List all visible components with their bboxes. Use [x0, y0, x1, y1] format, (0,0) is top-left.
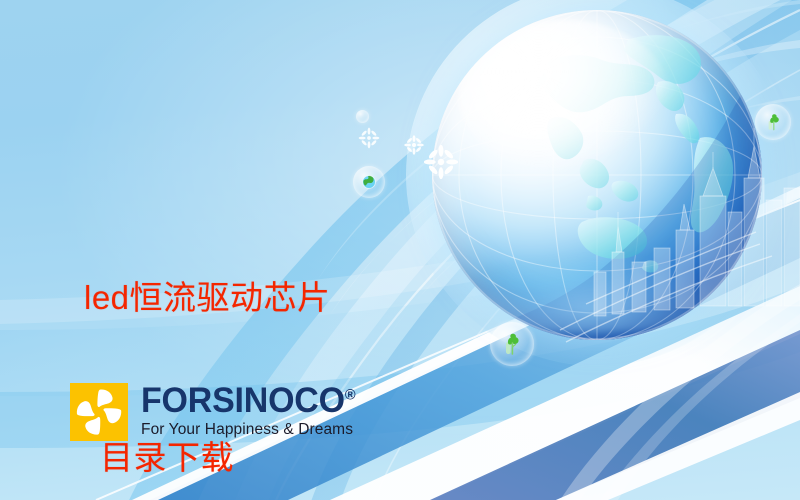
logo-name-text: FORSINOCO — [141, 381, 345, 420]
headline-line-1: led恒流驱动芯片 — [84, 271, 414, 324]
mini-tree-icon — [499, 331, 525, 357]
promotional-banner: led恒流驱动芯片 目录下载 FORSINOCO® — [0, 0, 800, 500]
four-petal-pinwheel-icon — [70, 383, 128, 441]
bubble-tree-icon — [755, 104, 791, 140]
bubble-tree-icon — [490, 322, 534, 366]
company-logo: FORSINOCO® For Your Happiness & Dreams — [70, 383, 362, 441]
logo-tagline: For Your Happiness & Dreams — [141, 421, 362, 438]
sparkle-flower-icon — [404, 135, 424, 155]
logo-company-name: FORSINOCO® — [141, 384, 355, 417]
bubble-small-icon — [356, 110, 369, 123]
globe-sphere — [432, 10, 762, 340]
globe-rim — [432, 10, 762, 340]
logo-text-block: FORSINOCO® For Your Happiness & Dreams — [141, 383, 362, 438]
sparkle-flower-icon — [424, 145, 458, 179]
sparkle-flower-icon — [358, 127, 380, 149]
page-title: led恒流驱动芯片 目录下载 — [84, 164, 414, 500]
earth-globe-graphic — [432, 10, 762, 340]
mini-tree-icon — [763, 112, 784, 133]
registered-trademark-icon: ® — [345, 386, 356, 403]
